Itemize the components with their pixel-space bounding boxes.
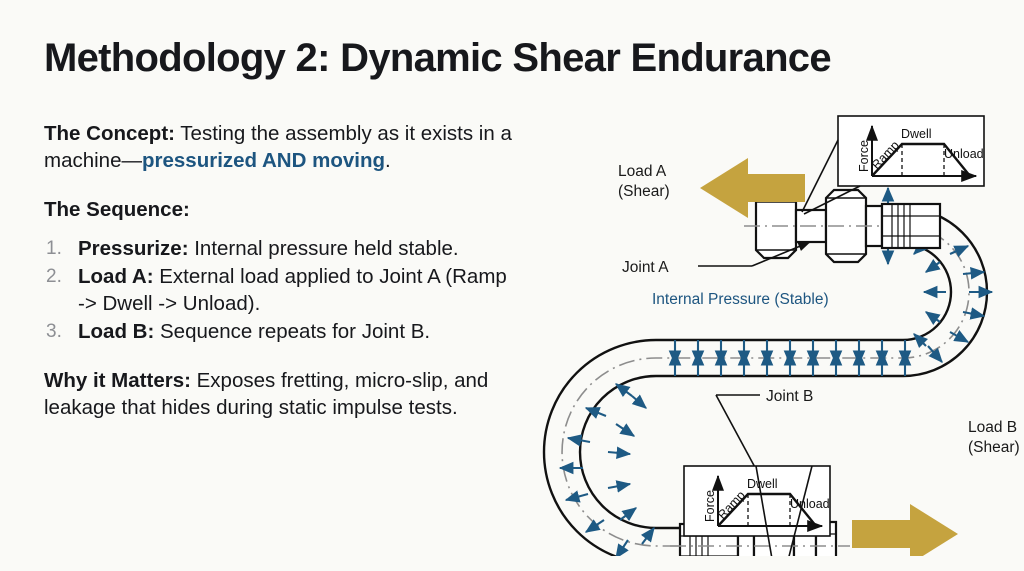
load-a-label-line2: (Shear) — [618, 183, 670, 200]
load-b-arrow — [852, 504, 958, 556]
list-item-lead: Pressurize: — [78, 237, 189, 260]
list-item-text: Internal pressure held stable. — [189, 237, 459, 260]
slide-root: Methodology 2: Dynamic Shear Endurance T… — [0, 0, 1024, 571]
sequence-heading: The Sequence: — [44, 196, 514, 223]
list-item: 2.Load A: External load applied to Joint… — [44, 263, 514, 317]
page-title: Methodology 2: Dynamic Shear Endurance — [44, 36, 974, 81]
concept-highlight: pressurized AND moving — [142, 149, 385, 172]
chart-dwell-label: Dwell — [901, 127, 932, 141]
load-b-label-line1: Load B — [968, 419, 1017, 436]
list-item: 1.Pressurize: Internal pressure held sta… — [44, 235, 514, 262]
hose-assembly-diagram: Load A (Shear) Load B (Shear) Joint A Jo… — [520, 96, 1024, 556]
force-chart-top: Force Ramp Dwell Unload — [838, 116, 984, 186]
load-a-label-line1: Load A — [618, 163, 667, 180]
list-item-lead: Load B: — [78, 320, 154, 343]
concept-text-2: . — [385, 149, 391, 172]
internal-pressure-label: Internal Pressure (Stable) — [652, 291, 829, 308]
chart-dwell-label: Dwell — [747, 477, 778, 491]
list-item: 3.Load B: Sequence repeats for Joint B. — [44, 318, 514, 345]
concept-paragraph: The Concept: Testing the assembly as it … — [44, 120, 514, 174]
why-paragraph: Why it Matters: Exposes fretting, micro-… — [44, 367, 514, 421]
sequence-list: 1.Pressurize: Internal pressure held sta… — [44, 235, 514, 345]
list-item-text: Sequence repeats for Joint B. — [154, 320, 430, 343]
list-item-number: 2. — [46, 263, 62, 290]
concept-label: The Concept: — [44, 122, 175, 145]
joint-a-label: Joint A — [622, 259, 669, 276]
list-item-number: 3. — [46, 318, 62, 345]
why-label: Why it Matters: — [44, 369, 191, 392]
content-column: The Concept: Testing the assembly as it … — [44, 120, 514, 443]
chart-y-axis-label: Force — [703, 490, 717, 522]
joint-b-label: Joint B — [766, 388, 813, 405]
chart-y-axis-label: Force — [857, 140, 871, 172]
chart-unload-label: Unload — [790, 497, 830, 511]
list-item-number: 1. — [46, 235, 62, 262]
load-b-label-line2: (Shear) — [968, 439, 1020, 456]
chart-unload-label: Unload — [944, 147, 984, 161]
list-item-lead: Load A: — [78, 265, 154, 288]
